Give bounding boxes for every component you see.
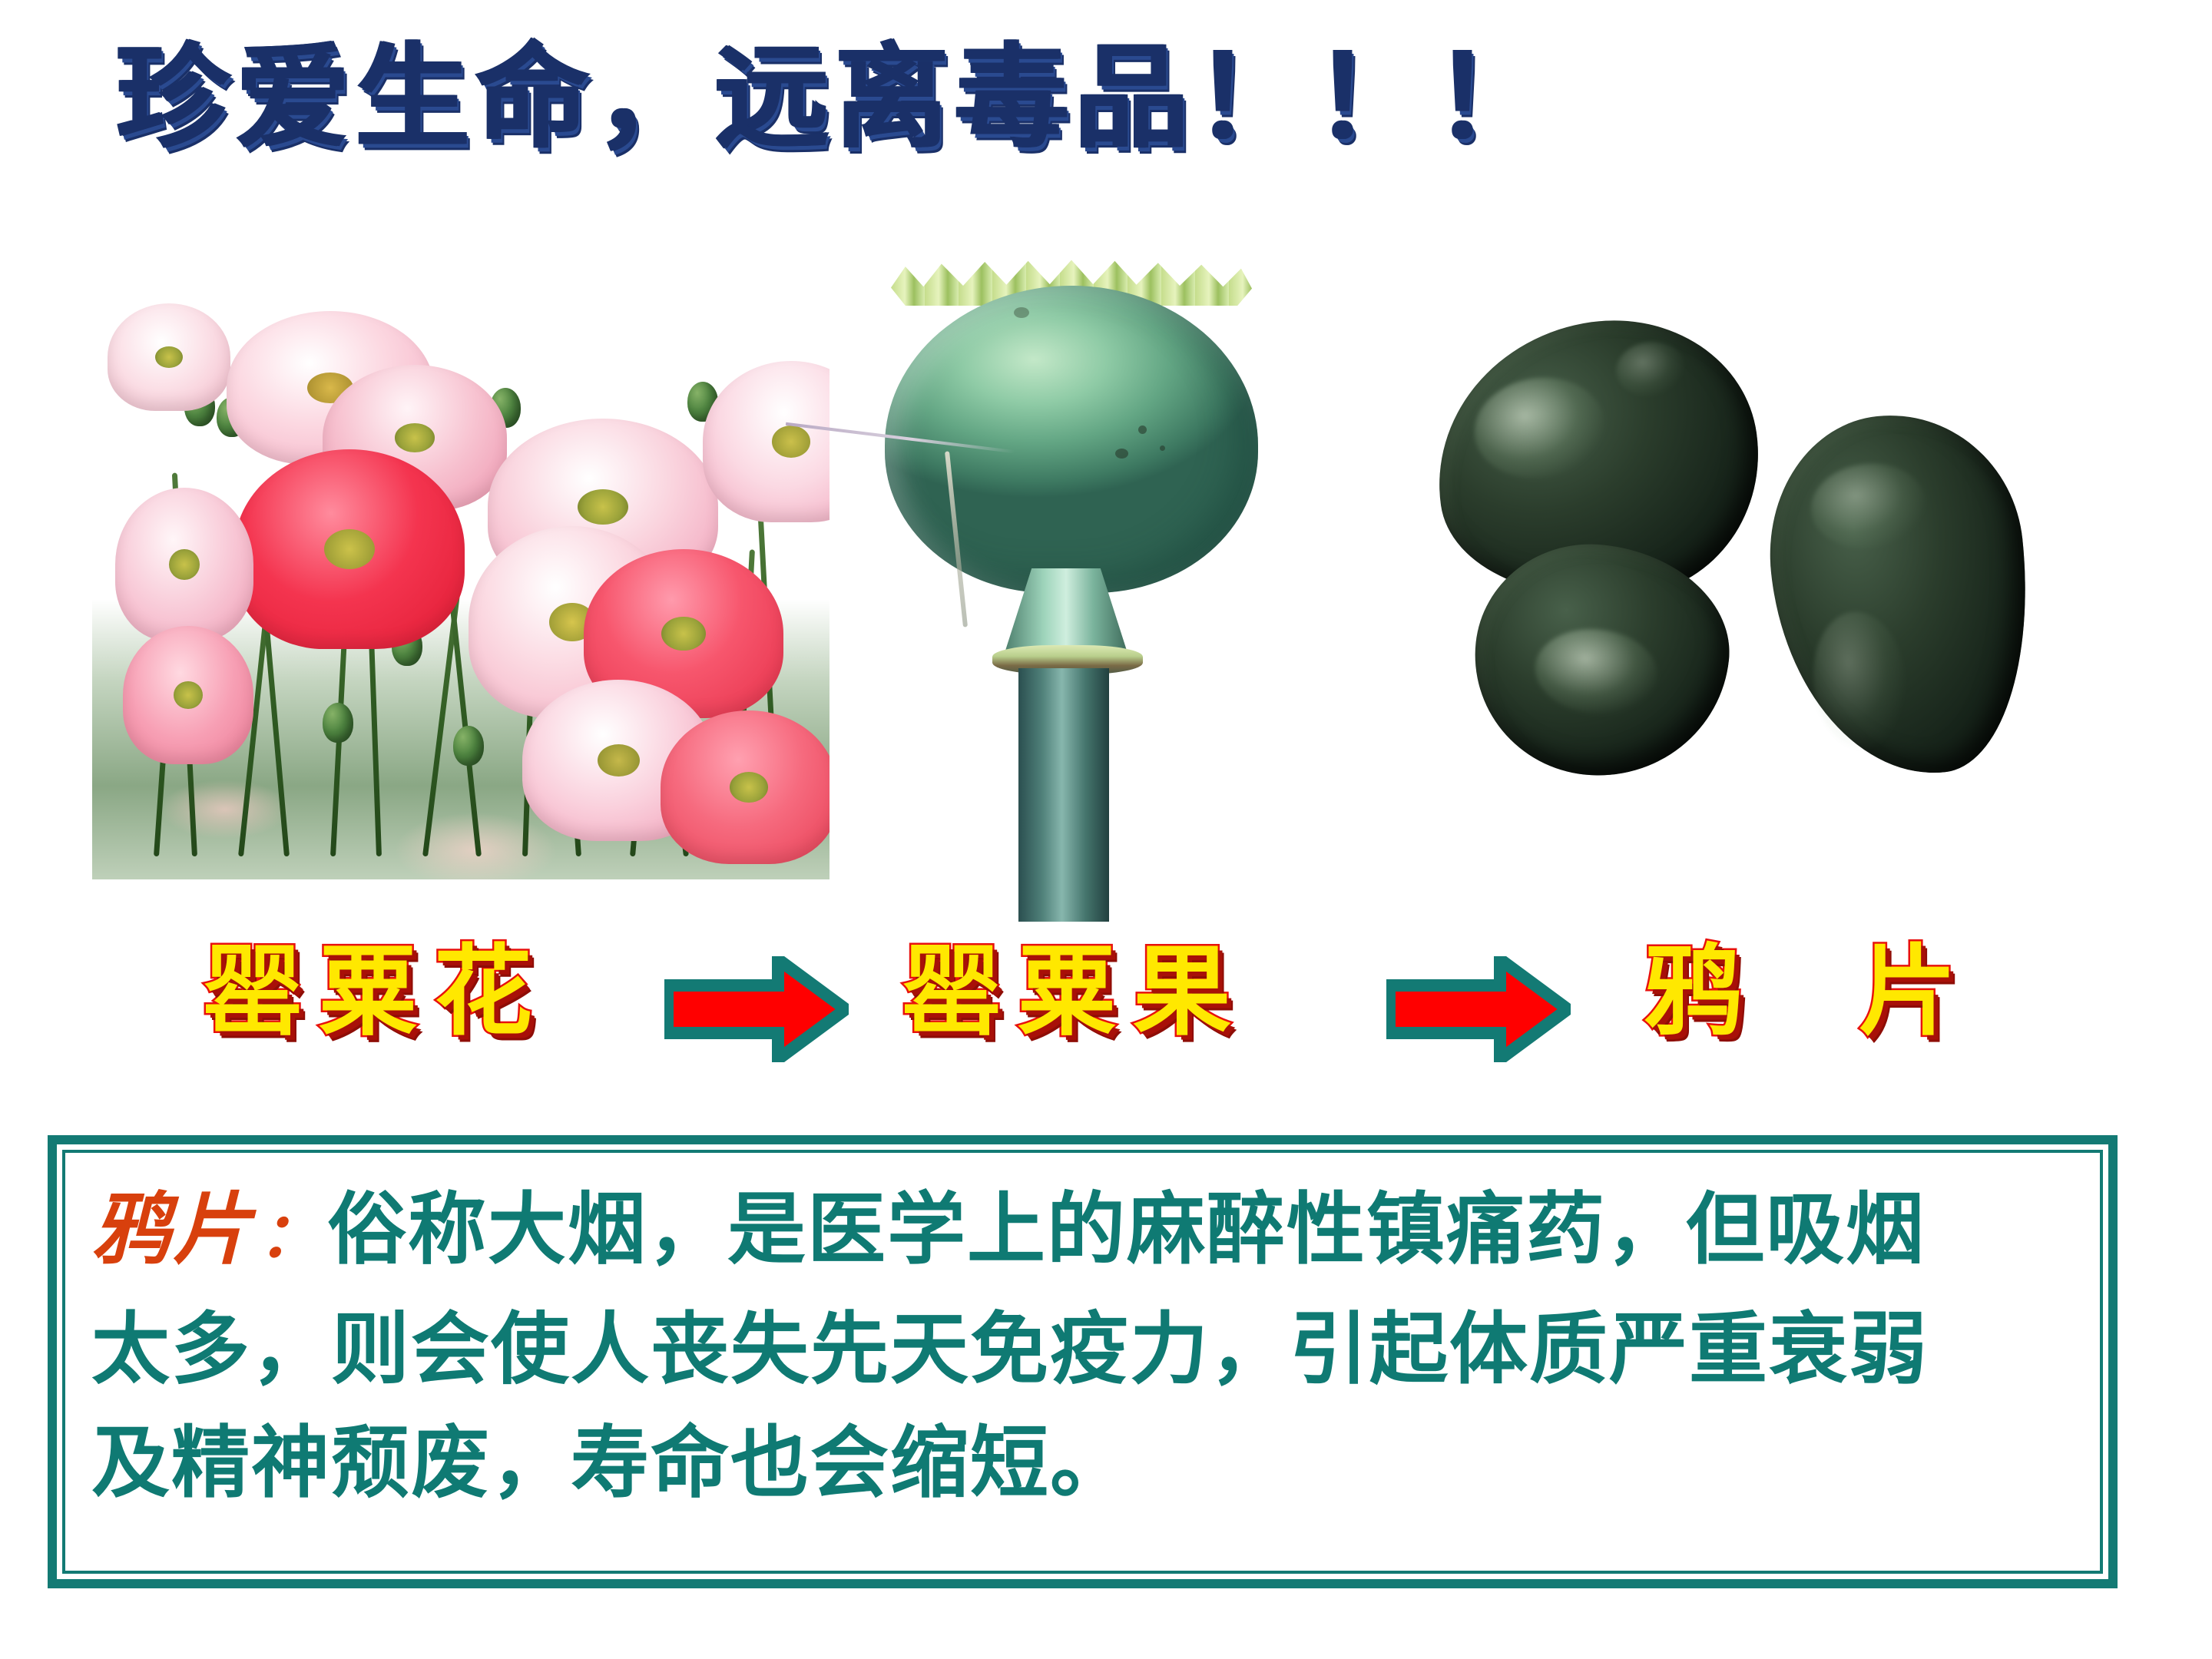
poppy-flowers-photo [92,296,829,879]
pod-speck [1138,426,1147,434]
poppy-blossom [115,488,253,641]
lump-sheen [1531,623,1662,720]
pod-incision-line [945,451,968,627]
poppy-bud [453,726,484,766]
stage-label-row: 罂粟花 罂粟果 鸦 片 [0,918,2212,1083]
description-line-1: 鸦片：俗称大烟，是医学上的麻醉性镇痛药，但吸烟 [91,1173,2074,1293]
illustration-row [0,230,2212,922]
description-line-2: 太多，则会使人丧失先天免疫力，引起体质严重衰弱 [91,1293,2074,1406]
stage-label-poppy-pod: 罂粟果 [902,935,1248,1050]
lump-sheen [1613,337,1689,400]
poppy-blossom [661,710,829,864]
description-line-3: 及精神颓废，寿命也会缩短。 [91,1406,2074,1520]
poppy-blossom [108,303,230,411]
pod-speck [1014,307,1029,318]
stage-label-opium: 鸦 片 [1644,935,2002,1050]
right-arrow-icon-2 [1386,956,1571,1062]
page-title: 珍爱生命，远离毒品！！！ [115,29,1959,175]
description-colon: ： [259,1201,328,1270]
right-arrow-icon-1 [664,956,849,1062]
pod-speck [1115,449,1128,459]
pod-stem [1018,668,1109,922]
lump-sheen [1806,607,1912,754]
description-term: 鸦片 [91,1186,259,1273]
opium-lump [1756,402,2045,788]
description-box: 鸦片：俗称大烟，是医学上的麻醉性镇痛药，但吸烟 太多，则会使人丧失先天免疫力，引… [48,1135,2118,1588]
lump-sheen [1468,369,1611,486]
pod-speck [1160,445,1165,451]
description-inner-border: 鸦片：俗称大烟，是医学上的麻醉性镇痛药，但吸烟 太多，则会使人丧失先天免疫力，引… [62,1150,2103,1574]
pod-body [885,286,1258,593]
opium-lumps-photo [1429,315,2089,922]
description-line-1-text: 俗称大烟，是医学上的麻醉性镇痛药，但吸烟 [328,1186,1926,1273]
poppy-blossom [234,449,465,649]
poppy-blossom [123,626,253,764]
poppy-bud [323,703,353,743]
stage-label-poppy-flower: 罂粟花 [204,935,549,1050]
poppy-pod-photo [868,238,1344,922]
lump-sheen [1806,458,1930,554]
